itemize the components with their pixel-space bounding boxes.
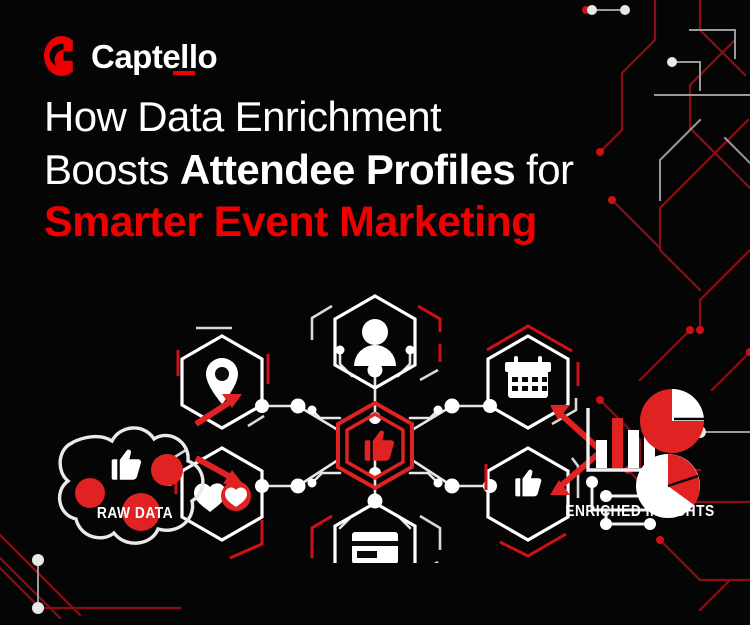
promo-banner: Captello How Data Enrichment Boosts Atte… <box>0 0 750 625</box>
logo-underline-accent <box>173 71 195 75</box>
enriched-insights-label: ENRICHED INSIGHTS <box>550 503 731 521</box>
credit-card-icon <box>352 532 398 563</box>
brand-wordmark: Captello <box>91 40 217 73</box>
headline-line-2-suffix: for <box>515 146 573 193</box>
pie-chart-top-icon <box>640 389 706 453</box>
node-credit-card[interactable] <box>312 503 440 563</box>
brand-logo[interactable]: Captello <box>44 36 217 76</box>
headline-line-2-prefix: Boosts <box>44 146 180 193</box>
data-enrichment-diagram: RAW DATA ENRICHED INSIGHTS <box>0 258 750 563</box>
raw-data-label: RAW DATA <box>53 505 216 523</box>
node-hearts[interactable] <box>170 448 262 558</box>
node-location[interactable] <box>178 328 268 428</box>
raw-dot <box>151 454 183 486</box>
person-icon <box>354 319 396 366</box>
thumbs-up-icon <box>112 450 141 480</box>
flow-arrows-left <box>196 394 243 484</box>
node-calendar[interactable] <box>487 326 578 428</box>
captello-c-icon <box>44 36 78 76</box>
headline-line-2-emphasis: Attendee Profiles <box>180 146 515 193</box>
thumbs-up-icon <box>515 470 541 497</box>
calendar-icon <box>505 356 551 398</box>
thumbs-up-icon <box>365 431 394 461</box>
headline-line-1: How Data Enrichment <box>44 90 704 143</box>
headline-line-2: Boosts Attendee Profiles for <box>44 143 704 196</box>
raw-dot <box>75 478 105 508</box>
headline-block: How Data Enrichment Boosts Attendee Prof… <box>44 90 704 249</box>
node-thumbs-up[interactable] <box>486 448 578 556</box>
brand-name: Captello <box>91 38 217 75</box>
headline-line-3: Smarter Event Marketing <box>44 196 704 249</box>
